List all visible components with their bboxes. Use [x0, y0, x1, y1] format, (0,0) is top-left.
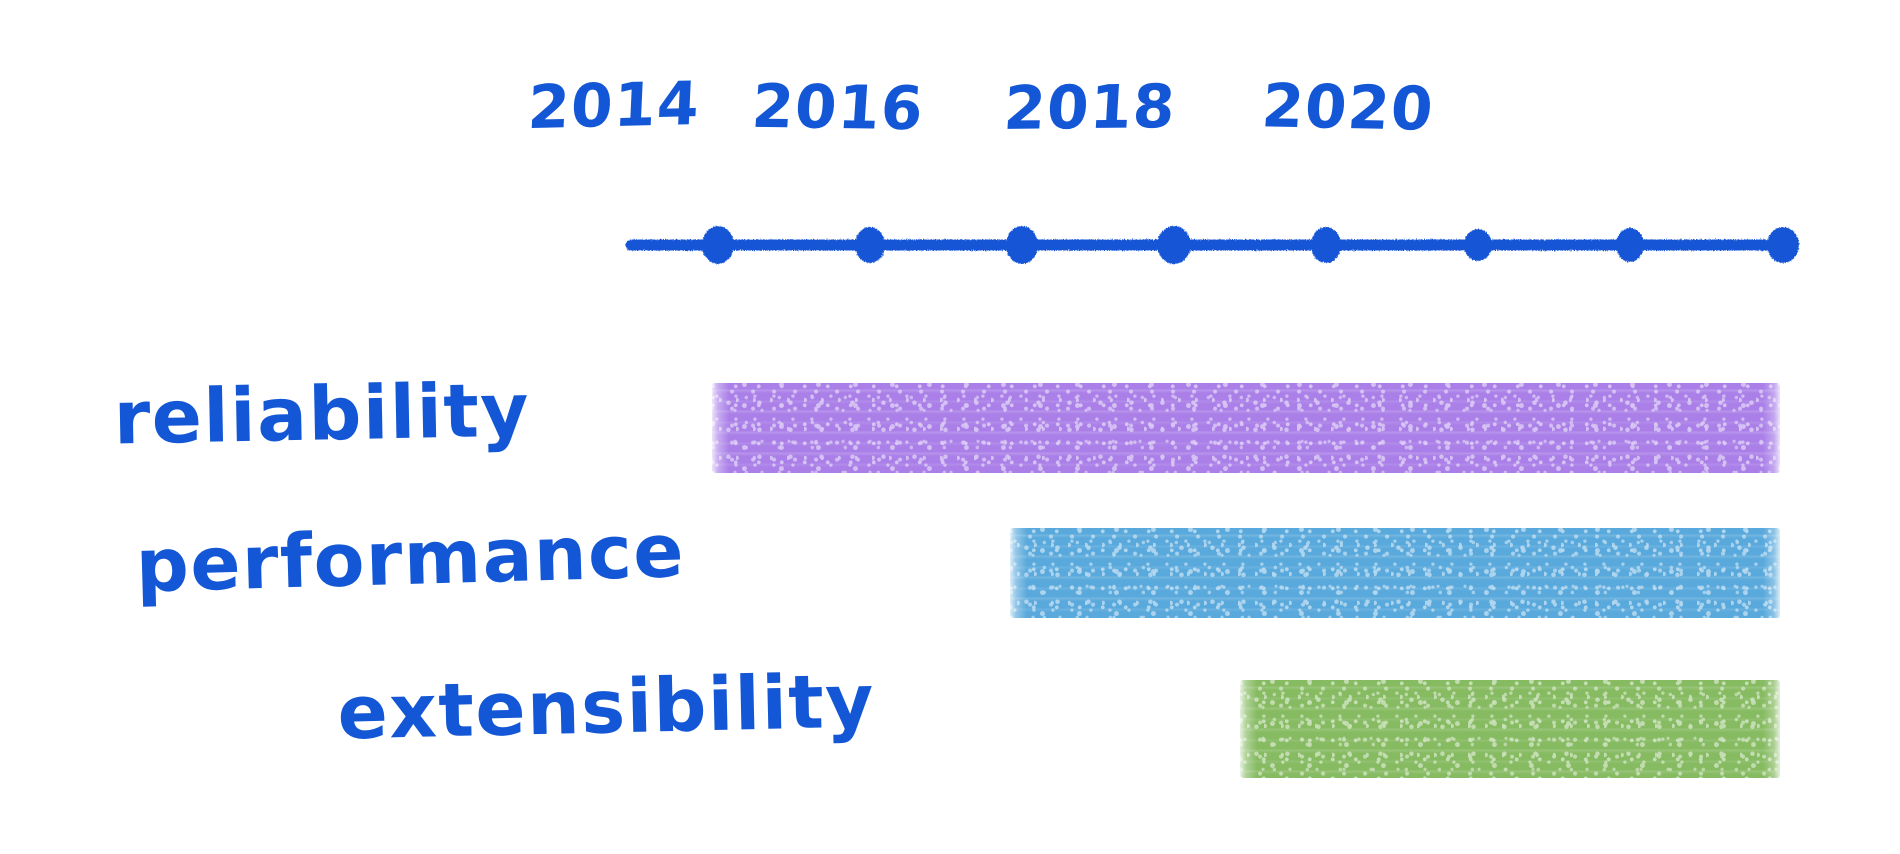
axis-year-label-2018: 2018 — [1002, 77, 1177, 139]
bar-reliability: reliability — [712, 383, 1780, 473]
axis-tick-dot-2021 — [1767, 227, 1799, 263]
bar-reliability-left-edge — [709, 380, 729, 476]
bar-performance: performance — [1010, 528, 1780, 618]
axis-year-label-2020: 2020 — [1260, 76, 1436, 140]
axis-tick-dot-2018 — [1311, 227, 1341, 263]
axis-year-label-2014: 2014 — [527, 74, 702, 138]
timeline-figure: 2014 2016 2018 2020 reliability — [0, 0, 1900, 854]
bar-reliability-texture — [710, 381, 1782, 475]
axis-tick-dot-2019 — [1464, 229, 1492, 261]
axis-year-label-2016: 2016 — [750, 77, 926, 139]
bar-extensibility-right-edge — [1763, 677, 1783, 781]
bar-extensibility-texture — [1238, 678, 1782, 780]
bar-reliability-right-edge — [1763, 380, 1783, 476]
bar-extensibility: extensibility — [1240, 680, 1780, 778]
axis-tick-dot-2017 — [1157, 226, 1191, 264]
axis-tick-dot-2015 — [855, 227, 885, 263]
bar-performance-texture — [1008, 526, 1782, 620]
axis-tick-dot-2014 — [702, 226, 734, 264]
axis-tick-dot-2016 — [1006, 226, 1038, 264]
row-label-performance: performance — [119, 514, 686, 604]
bar-performance-right-edge — [1763, 525, 1783, 621]
bar-performance-left-edge — [1007, 525, 1027, 621]
bar-extensibility-left-edge — [1237, 677, 1257, 781]
axis-tick-dot-2020 — [1616, 228, 1644, 262]
row-label-extensibility: extensibility — [199, 664, 876, 753]
row-label-reliability: reliability — [59, 373, 530, 456]
